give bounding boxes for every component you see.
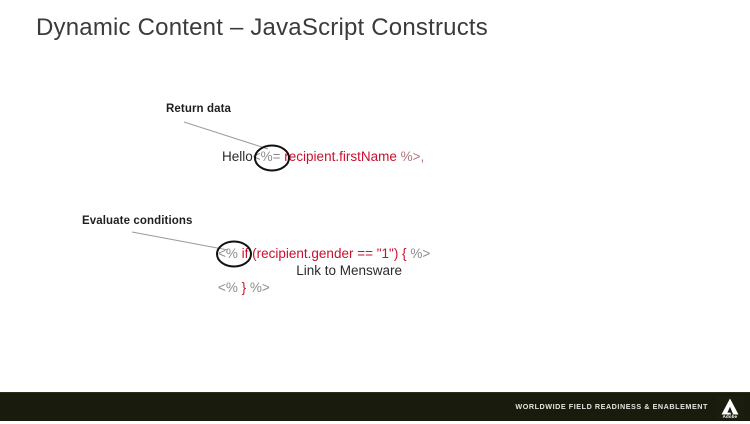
code-token-text: Hello [222, 149, 253, 164]
code-token-delimiter-close: %> [246, 280, 270, 295]
annotation-label-return-data: Return data [166, 103, 231, 115]
adobe-wordmark: Adobe [716, 414, 744, 419]
leader-line-return-data [184, 122, 268, 149]
code-block-conditional: <% if (recipient.gender == "1") { %> Lin… [218, 245, 430, 296]
footer-text: WORLDWIDE FIELD READINESS & ENABLEMENT [515, 402, 708, 411]
adobe-logo: Adobe [716, 396, 744, 419]
code-line: Link to Mensware [218, 262, 430, 279]
slide-canvas: Dynamic Content – JavaScript Constructs … [0, 0, 750, 421]
page-title: Dynamic Content – JavaScript Constructs [36, 14, 488, 42]
footer-bar: WORLDWIDE FIELD READINESS & ENABLEMENT A… [0, 392, 750, 421]
code-token-delimiter: <% [218, 246, 238, 261]
code-token-delimiter: <%= [253, 149, 281, 164]
leader-line-evaluate-conditions [132, 232, 228, 250]
annotation-label-evaluate-conditions: Evaluate conditions [82, 215, 193, 227]
code-line: <% } %> [218, 279, 430, 296]
code-token-text: Link to Mensware [296, 263, 402, 278]
code-line: <% if (recipient.gender == "1") { %> [218, 245, 430, 262]
code-token-delimiter-close: %> [410, 246, 430, 261]
code-token-delimiter: <% [218, 280, 242, 295]
annotation-overlay [0, 0, 750, 421]
code-line: Hello<%= recipient.firstName %>, [222, 148, 424, 165]
code-token-expression: if (recipient.gender == "1") { [238, 246, 410, 261]
code-token-delimiter-close: %>, [401, 149, 425, 164]
code-block-greeting: Hello<%= recipient.firstName %>, [222, 148, 424, 165]
code-token-expression: recipient.firstName [281, 149, 401, 164]
